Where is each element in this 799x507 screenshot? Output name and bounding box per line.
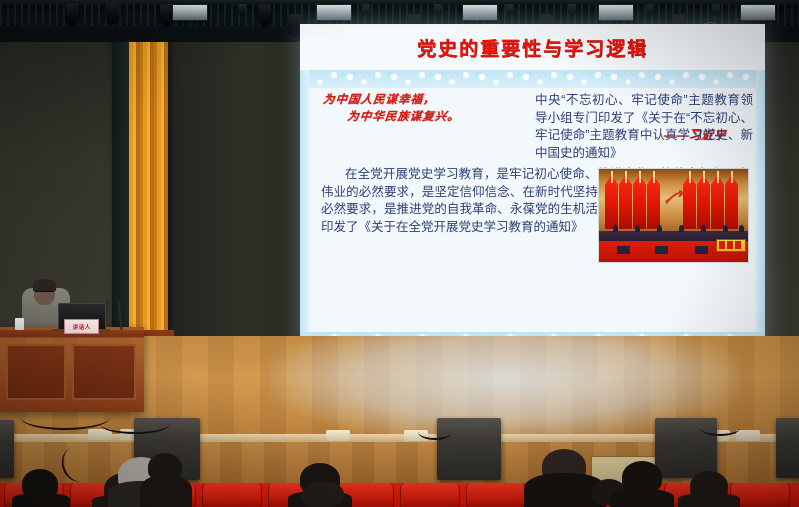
photo-seated-official [635, 225, 640, 232]
stage-light-panel [462, 4, 498, 21]
auditorium-scene: 党史的重要性与学习逻辑 为中国人民谋幸福， 为中华民族谋复兴。 ——习近平 中央… [0, 0, 799, 507]
slide-conference-photo [598, 168, 749, 263]
stage-light-fixture-icon [258, 4, 271, 24]
stage-curtain-shadow [112, 36, 129, 336]
photo-flag-pole [611, 171, 613, 183]
speaker-glasses-icon [35, 291, 54, 296]
stage-monitor-speaker [776, 418, 799, 478]
audience-shoulders [678, 493, 740, 507]
photo-flag [683, 175, 696, 229]
slide-content-area: 为中国人民谋幸福， 为中华民族谋复兴。 ——习近平 中央“不忘初心、牢记使命”主… [311, 88, 754, 330]
water-cup [15, 318, 24, 330]
stage-light-small [646, 4, 654, 15]
audience-seat [466, 483, 526, 507]
photo-seated-official [679, 225, 684, 232]
calligraphy-line-1: 为中国人民谋幸福， [322, 94, 436, 106]
party-emblem-icon [661, 185, 687, 211]
slide-right-column-text: 中央“不忘初心、牢记使命”主题教育领导小组专门印发了《关于在“不忘初心、牢记使命… [535, 92, 753, 162]
speaker-name-placard-text: 讲话人 [73, 322, 91, 330]
audio-cable [418, 424, 452, 440]
photo-flag [711, 175, 724, 229]
stage-light-panel [598, 4, 634, 21]
photo-flag-pole [717, 171, 719, 183]
photo-flag-pole [625, 171, 627, 183]
audience-shoulders [12, 493, 70, 507]
audience-seat [400, 483, 460, 507]
stage-light-small [362, 4, 370, 15]
stage-light-fixture-icon [66, 3, 79, 23]
stage-monitor-speaker [0, 420, 14, 478]
audio-cable [100, 414, 170, 434]
floor-wedge-light [326, 430, 350, 441]
slide-border-left [300, 70, 309, 332]
slide-border-right [756, 70, 765, 332]
photo-seated-official [701, 225, 706, 232]
photo-seated-official [739, 225, 744, 232]
stage-backdrop-dark-panel [155, 36, 315, 336]
floor-wedge-light [736, 430, 760, 441]
stage-light-small [568, 4, 576, 15]
photo-flag [633, 175, 646, 229]
audio-cable [20, 404, 110, 430]
speaker-hair [33, 279, 56, 291]
photo-seated-official [657, 225, 662, 232]
photo-podium-box [655, 246, 668, 254]
photo-podium-box [617, 246, 630, 254]
photo-seated-official [613, 225, 618, 232]
stage-light-panel [316, 4, 352, 21]
photo-flag [647, 175, 660, 229]
stage-light-small [434, 4, 442, 15]
stage-light-panel [172, 4, 208, 21]
audience-shoulders [610, 489, 674, 507]
photo-flag [697, 175, 710, 229]
photo-flag-pole [689, 171, 691, 183]
audience-shoulders [140, 475, 192, 507]
photo-flag [725, 175, 738, 229]
stage-light-small [238, 4, 246, 15]
slide-title-text: 党史的重要性与学习逻辑 [417, 34, 648, 61]
presenter-table-panel [6, 344, 66, 400]
slide-title-bar: 党史的重要性与学习逻辑 [300, 24, 765, 70]
photo-flag-pole [703, 171, 705, 183]
photo-flag-pole [731, 171, 733, 183]
speaker-name-placard: 讲话人 [64, 319, 99, 334]
photo-flag [605, 175, 618, 229]
stage-light-small [712, 4, 720, 15]
stage-light-small [506, 4, 514, 15]
audience-seat [202, 483, 262, 507]
presenter-table-panel [72, 344, 136, 400]
photo-red-banner [716, 239, 746, 252]
presenter-table [0, 327, 144, 412]
photo-flag-pole [639, 171, 641, 183]
stage-light-panel [740, 4, 776, 21]
stage-light-fixture-icon [106, 2, 119, 22]
photo-podium-box [695, 246, 708, 254]
audio-cable [700, 420, 740, 436]
slide-border-top-bubbles [300, 70, 765, 88]
projection-slide: 党史的重要性与学习逻辑 为中国人民谋幸福， 为中华民族谋复兴。 ——习近平 中央… [300, 24, 765, 354]
photo-seated-official [723, 225, 728, 232]
audience-head [302, 481, 344, 507]
photo-flag [619, 175, 632, 229]
photo-flag-pole [653, 171, 655, 183]
